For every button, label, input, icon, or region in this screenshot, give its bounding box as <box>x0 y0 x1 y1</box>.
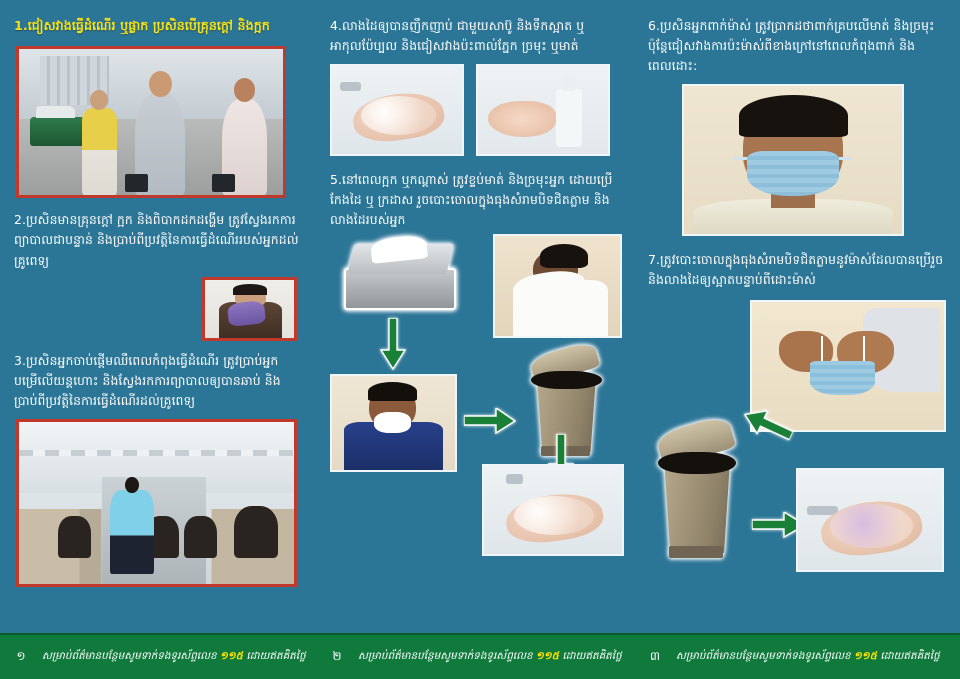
page-number-2: ២ <box>316 648 358 666</box>
passenger-head-3 <box>184 516 217 558</box>
footer-text-before-2: សម្រាប់ព័ត៌មានបន្ថែមសូមទាក់ទងទូរស័ព្ទលេខ <box>358 650 533 662</box>
photo-travelers-street <box>16 46 286 198</box>
scarf-scene <box>205 280 294 338</box>
tissue-box <box>344 244 456 310</box>
cover-scene <box>332 376 455 470</box>
cabin-scene <box>19 422 294 584</box>
photo-woman-with-mask <box>682 84 904 236</box>
footer-text-3: សម្រាប់ព័ត៌មានបន្ថែមសូមទាក់ទងទូរស័ព្ទលេខ… <box>676 650 940 665</box>
mask-face-scene <box>684 86 902 234</box>
item5-image-group <box>330 238 622 556</box>
footer-bar: ១ សម្រាប់ព័ត៌មានបន្ថែមសូមទាក់ទងទូរស័ព្ទល… <box>0 633 960 679</box>
wash-after-scene <box>484 466 622 554</box>
footer-hotline-2: ១១៥ <box>536 650 559 662</box>
footer-text-1: សម្រាប់ព័ត៌មានបន្ថែមសូមទាក់ទងទូរស័ព្ទលេខ… <box>42 650 306 665</box>
photo-removing-mask <box>750 300 946 432</box>
photo-airplane-cabin <box>16 419 297 587</box>
scarf-man-hair <box>233 284 267 294</box>
photo-sneeze-into-elbow <box>493 234 622 338</box>
item5-text: 5.នៅពេលក្អក ឬកណ្តាស់ ត្រូវខ្ទប់មាត់ និងច… <box>330 170 622 230</box>
footer-segment-3: ៣ សម្រាប់ព័ត៌មានបន្ថែមសូមទាក់ទងទូរស័ព្ទល… <box>634 635 960 679</box>
item4-text: 4.លាងដៃឲ្យបានញឹកញាប់ ជាមួយសាប៊ូ និងទឹកស្… <box>330 16 622 56</box>
footer-text-after-1: ដោយឥតគិតថ្លៃ <box>246 650 305 662</box>
page-number-3: ៣ <box>634 648 676 666</box>
passenger-head-4 <box>234 506 278 558</box>
page-number-1: ១ <box>0 648 42 666</box>
footer-hotline-1: ១១៥ <box>220 650 243 662</box>
item3-text: 3.ប្រសិនអ្នកចាប់ផ្តើមឈឺពេលកំពុងធ្វើដំណើរ… <box>14 351 304 411</box>
faucet <box>340 82 361 91</box>
footer-hotline-3: ១១៥ <box>854 650 877 662</box>
column-one: 1.ជៀសវាងធ្វើដំណើរ ឬផ្លាក ប្រសិនបើគ្រុនក្… <box>0 6 316 633</box>
footer-text-2: សម្រាប់ព័ត៌មានបន្ថែមសូមទាក់ទងទូរស័ព្ទលេខ… <box>358 650 622 665</box>
open-palm <box>488 101 556 136</box>
poster-columns: 1.ជៀសវាងធ្វើដំណើរ ឬផ្លាក ប្រសិនបើគ្រុនក្… <box>0 0 960 633</box>
sanitizer-scene <box>478 66 608 154</box>
elbow-scene <box>495 236 620 336</box>
footer-text-after-3: ដោយឥតគិតថ្លៃ <box>880 650 939 662</box>
footer-text-before-3: សម្រាប់ព័ត៌មានបន្ថែមសូមទាក់ទងទូរស័ព្ទលេខ <box>676 650 851 662</box>
item7-text: 7.ត្រូវបោះចោលក្នុងធុងសំរាមបិទជិតភ្លាមនូវ… <box>648 250 948 290</box>
health-poster: 1.ជៀសវាងធ្វើដំណើរ ឬផ្លាក ប្រសិនបើគ្រុនក្… <box>0 0 960 679</box>
footer-segment-1: ១ សម្រាប់ព័ត៌មានបន្ថែមសូមទាក់ទងទូរស័ព្ទល… <box>0 635 316 679</box>
arrow-right-to-bin <box>464 408 516 434</box>
footer-text-before-1: សម្រាប់ព័ត៌មានបន្ថែមសូមទាក់ទងទូរស័ព្ទលេខ <box>42 650 217 662</box>
footer-segment-2: ២ សម្រាប់ព័ត៌មានបន្ថែមសូមទាក់ទងទូរស័ព្ទល… <box>316 635 634 679</box>
photo-hand-sanitizer <box>476 64 610 156</box>
purple-scarf <box>227 300 267 327</box>
woman-walking <box>82 108 116 196</box>
item2-text: 2.ប្រសិនមានគ្រុនក្តៅ ក្អក និងពិបាកដកដង្ហ… <box>14 210 304 270</box>
photo-washing-hands <box>330 64 464 156</box>
photo-man-nose-tissue <box>330 374 457 472</box>
street-scene <box>19 49 283 195</box>
photo-wash-hands-soap-bar <box>796 468 944 572</box>
passenger-head-1 <box>58 516 91 558</box>
bag-right <box>212 174 236 193</box>
column-three: 6.ប្រសិនអ្នកពាក់ម៉ាស់ ត្រូវប្រាកដថាពាក់គ… <box>634 6 960 633</box>
item6-text: 6.ប្រសិនអ្នកពាក់ម៉ាស់ ត្រូវប្រាកដថាពាក់គ… <box>648 16 948 76</box>
photo-scarf-man <box>202 277 297 341</box>
column-two: 4.លាងដៃឲ្យបានញឹកញាប់ ជាមួយសាប៊ូ និងទឹកស្… <box>316 6 634 633</box>
soap-suds <box>361 96 436 135</box>
bag-left <box>125 174 149 193</box>
removal-scene <box>752 302 944 430</box>
sanitizer-bottle <box>556 89 582 147</box>
item7-image-group <box>648 300 948 580</box>
photo-wash-hands-after <box>482 464 624 556</box>
footer-text-after-2: ដោយឥតគិតថ្លៃ <box>562 650 621 662</box>
item1-text: 1.ជៀសវាងធ្វើដំណើរ ឬផ្លាក ប្រសិនបើគ្រុនក្… <box>14 16 304 36</box>
arrow-down-to-tissue-use <box>380 318 406 370</box>
pedal-trash-bin <box>652 418 748 558</box>
flight-attendant <box>110 490 154 574</box>
item4-images <box>330 64 622 156</box>
soapbar-scene <box>798 470 942 570</box>
wash-scene <box>332 66 462 154</box>
